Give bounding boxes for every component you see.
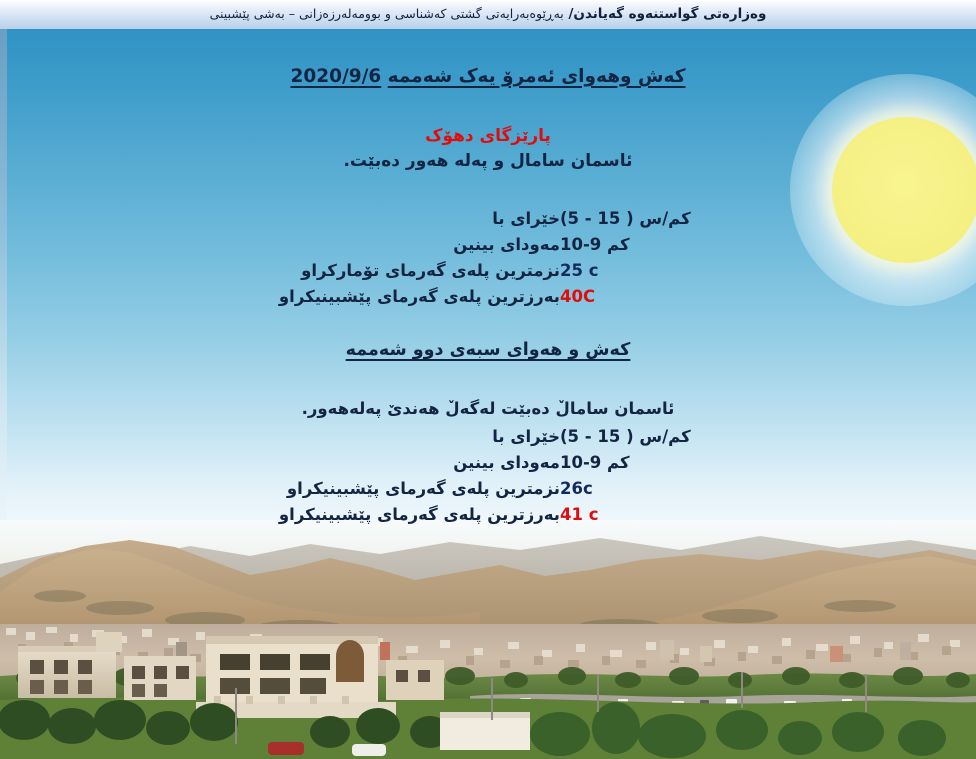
today-measurements: (5 - 15 ) کم/س خێرای با 10-9 کم مەودای ب… — [0, 209, 976, 313]
today-wind-label: خێرای با — [320, 209, 560, 228]
tomorrow-sky-description: ئاسمان سامالٚ دەبێت لەگەلٚ هەندێ پەلەهەو… — [0, 401, 976, 418]
today-date: 2020/9/6 — [290, 66, 381, 87]
tomorrow-wind-value: (5 - 15 ) کم/س — [560, 427, 656, 446]
today-visibility-value: 10-9 کم — [560, 235, 656, 254]
today-max-temp-value: 40C — [560, 287, 656, 306]
tomorrow-row-max-temp: 41 c بەرزترین پلەی گەرمای پێشبینیکراو — [0, 505, 976, 531]
landscape-illustration — [0, 520, 976, 759]
today-row-min-temp: 25 c نزمترین پلەی گەرمای تۆمارکراو — [0, 261, 976, 287]
today-max-temp-label: بەرزترین پلەی گەرمای پێشبینیکراو — [320, 287, 560, 306]
tomorrow-measurements: (5 - 15 ) کم/س خێرای با 10-9 کم مەودای ب… — [0, 427, 976, 531]
today-min-temp-value: 25 c — [560, 261, 656, 280]
tomorrow-max-temp-value: 41 c — [560, 505, 656, 524]
tomorrow-max-temp-label: بەرزترین پلەی گەرمای پێشبینیکراو — [320, 505, 560, 524]
tomorrow-row-wind: (5 - 15 ) کم/س خێرای با — [0, 427, 976, 453]
directorate-name: بەڕێوەبەرایەتی گشتی کەشناسی و بوومەلەرزە… — [210, 6, 564, 21]
tomorrow-min-temp-value: 26c — [560, 479, 656, 498]
today-title: کەش وهەوای ئەمرۆ یەک شەممە 2020/9/6 — [0, 68, 976, 87]
tomorrow-visibility-label: مەودای بینین — [320, 453, 560, 472]
duhok-city-photo — [0, 520, 976, 759]
ministry-name: وەزارەتی گواستنەوە گەیاندن/ — [568, 6, 766, 22]
tomorrow-title-label: کەش و هەوای سبەی دوو شەممە — [346, 340, 631, 360]
province-name: پارێزگای دهۆک — [0, 128, 976, 145]
today-min-temp-label: نزمترین پلەی گەرمای تۆمارکراو — [320, 261, 560, 280]
today-title-label: کەش وهەوای ئەمرۆ یەک شەممە — [388, 66, 686, 87]
tomorrow-wind-label: خێرای با — [320, 427, 560, 446]
today-row-max-temp: 40C بەرزترین پلەی گەرمای پێشبینیکراو — [0, 287, 976, 313]
today-sky-description: ئاسمان سامال و پەلە هەور دەبێت. — [0, 153, 976, 170]
tomorrow-row-visibility: 10-9 کم مەودای بینین — [0, 453, 976, 479]
weather-forecast-page: وەزارەتی گواستنەوە گەیاندن/ بەڕێوەبەرایە… — [0, 0, 976, 759]
today-row-wind: (5 - 15 ) کم/س خێرای با — [0, 209, 976, 235]
tomorrow-visibility-value: 10-9 کم — [560, 453, 656, 472]
tomorrow-title: کەش و هەوای سبەی دوو شەممە — [0, 342, 976, 360]
today-visibility-label: مەودای بینین — [320, 235, 560, 254]
today-row-visibility: 10-9 کم مەودای بینین — [0, 235, 976, 261]
ministry-header-band: وەزارەتی گواستنەوە گەیاندن/ بەڕێوەبەرایە… — [0, 0, 976, 29]
tomorrow-row-min-temp: 26c نزمترین پلەی گەرمای پێشبینیکراو — [0, 479, 976, 505]
ministry-header-text: وەزارەتی گواستنەوە گەیاندن/ بەڕێوەبەرایە… — [210, 7, 767, 22]
tomorrow-min-temp-label: نزمترین پلەی گەرمای پێشبینیکراو — [320, 479, 560, 498]
today-wind-value: (5 - 15 ) کم/س — [560, 209, 656, 228]
